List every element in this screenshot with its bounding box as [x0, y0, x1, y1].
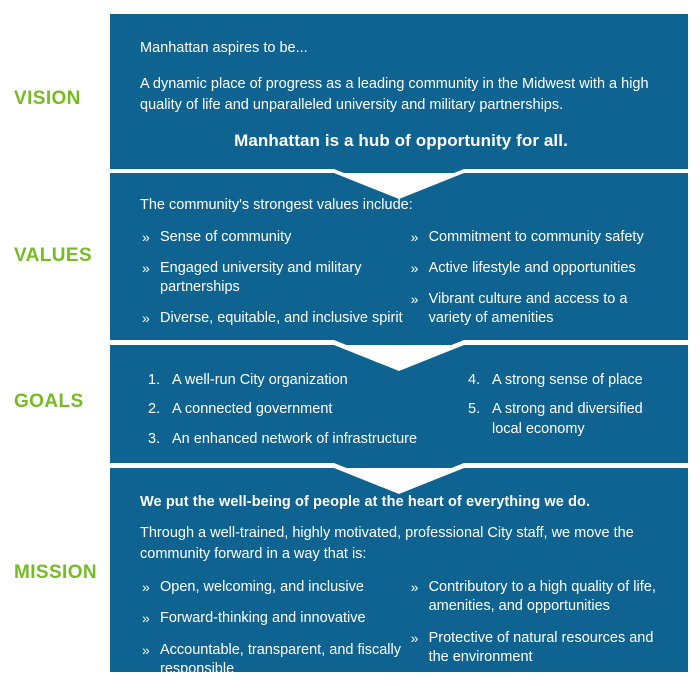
list-item-label: Sense of community [160, 229, 291, 245]
goals-list-left: 1.A well-run City organization 2.A conne… [148, 371, 468, 449]
list-item-label: Open, welcoming, and inclusive [160, 579, 364, 595]
chevron-bullet-icon: » [411, 629, 419, 648]
goals-band: 1.A well-run City organization 2.A conne… [110, 345, 688, 463]
list-item-label: Vibrant culture and access to a variety … [429, 291, 628, 326]
list-item: »Commitment to community safety [409, 228, 662, 247]
list-item-label: Forward-thinking and innovative [160, 610, 366, 626]
values-content: The community's strongest values include… [110, 173, 688, 340]
list-item: 2.A connected government [148, 400, 468, 419]
mission-column-right: »Contributory to a high quality of life,… [409, 578, 662, 691]
list-item-number: 5. [468, 400, 480, 419]
mission-column-left: »Open, welcoming, and inclusive »Forward… [140, 578, 409, 691]
list-item-number: 2. [148, 400, 160, 419]
list-item: »Forward-thinking and innovative [140, 609, 409, 628]
values-columns: »Sense of community »Engaged university … [140, 228, 662, 341]
values-band: The community's strongest values include… [110, 173, 688, 340]
chevron-bullet-icon: » [142, 228, 150, 247]
vision-content: Manhattan aspires to be... A dynamic pla… [110, 14, 688, 169]
list-item-label: Contributory to a high quality of life, … [429, 579, 656, 614]
list-item: 3.An enhanced network of infrastructure [148, 430, 468, 449]
list-item: »Contributory to a high quality of life,… [409, 578, 662, 617]
list-item-number: 1. [148, 371, 160, 390]
values-list-right: »Commitment to community safety »Active … [409, 228, 662, 329]
stage-label-values: VALUES [0, 246, 104, 265]
list-item: »Accountable, transparent, and fiscally … [140, 641, 409, 680]
list-item: »Protective of natural resources and the… [409, 629, 662, 668]
values-column-right: »Commitment to community safety »Active … [409, 228, 662, 341]
values-list-left: »Sense of community »Engaged university … [140, 228, 409, 329]
list-item-label: Commitment to community safety [429, 229, 644, 245]
values-column-left: »Sense of community »Engaged university … [140, 228, 409, 341]
goals-column-left: 1.A well-run City organization 2.A conne… [148, 371, 468, 459]
mission-heading: We put the well-being of people at the h… [140, 494, 662, 510]
chevron-bullet-icon: » [411, 290, 419, 309]
list-item-label: Active lifestyle and opportunities [429, 260, 636, 276]
chevron-bullet-icon: » [411, 228, 419, 247]
chevron-bullet-icon: » [142, 259, 150, 278]
list-item-label: A strong sense of place [492, 372, 643, 388]
stage-label-mission: MISSION [0, 563, 104, 582]
chevron-bullet-icon: » [142, 609, 150, 628]
list-item-label: Engaged university and military partners… [160, 260, 362, 295]
list-item-label: A strong and diversified local economy [492, 401, 643, 436]
list-item: »Vibrant culture and access to a variety… [409, 290, 662, 329]
vision-emphasis: Manhattan is a hub of opportunity for al… [140, 131, 662, 151]
list-item-number: 4. [468, 371, 480, 390]
goals-list-right: 4.A strong sense of place 5.A strong and… [468, 371, 658, 439]
list-item: 5.A strong and diversified local economy [468, 400, 658, 439]
chevron-bullet-icon: » [411, 578, 419, 597]
list-item-label: An enhanced network of infrastructure [172, 431, 417, 447]
list-item: »Engaged university and military partner… [140, 259, 409, 298]
list-item: »Sense of community [140, 228, 409, 247]
stage-label-vision: VISION [0, 89, 104, 108]
mission-band: We put the well-being of people at the h… [110, 468, 688, 672]
chevron-bullet-icon: » [142, 641, 150, 660]
values-intro: The community's strongest values include… [140, 195, 662, 216]
chevron-bullet-icon: » [142, 309, 150, 328]
list-item: »Open, welcoming, and inclusive [140, 578, 409, 597]
vision-band: Manhattan aspires to be... A dynamic pla… [110, 14, 688, 169]
mission-content: We put the well-being of people at the h… [110, 468, 688, 672]
list-item-number: 3. [148, 430, 160, 449]
list-item-label: Diverse, equitable, and inclusive spirit [160, 310, 403, 326]
mission-list-right: »Contributory to a high quality of life,… [409, 578, 662, 667]
list-item: 4.A strong sense of place [468, 371, 658, 390]
list-item-label: A well-run City organization [172, 372, 348, 388]
vision-statement: A dynamic place of progress as a leading… [140, 74, 662, 116]
goals-columns: 1.A well-run City organization 2.A conne… [148, 371, 662, 459]
mission-list-left: »Open, welcoming, and inclusive »Forward… [140, 578, 409, 679]
list-item-label: Protective of natural resources and the … [429, 630, 654, 665]
list-item: »Diverse, equitable, and inclusive spiri… [140, 309, 409, 328]
goals-content: 1.A well-run City organization 2.A conne… [110, 345, 688, 463]
list-item: »Active lifestyle and opportunities [409, 259, 662, 278]
goals-column-right: 4.A strong sense of place 5.A strong and… [468, 371, 658, 459]
mission-columns: »Open, welcoming, and inclusive »Forward… [140, 578, 662, 691]
list-item-label: A connected government [172, 401, 332, 417]
mission-intro: Through a well-trained, highly motivated… [140, 523, 662, 565]
chevron-bullet-icon: » [411, 259, 419, 278]
stage-label-column: VISION VALUES GOALS MISSION [0, 0, 110, 684]
stage-label-goals: GOALS [0, 392, 104, 411]
vision-intro: Manhattan aspires to be... [140, 38, 662, 59]
chevron-bullet-icon: » [142, 578, 150, 597]
list-item-label: Accountable, transparent, and fiscally r… [160, 642, 401, 677]
strategic-plan-infographic: VISION VALUES GOALS MISSION Manhattan as… [0, 0, 700, 684]
list-item: 1.A well-run City organization [148, 371, 468, 390]
